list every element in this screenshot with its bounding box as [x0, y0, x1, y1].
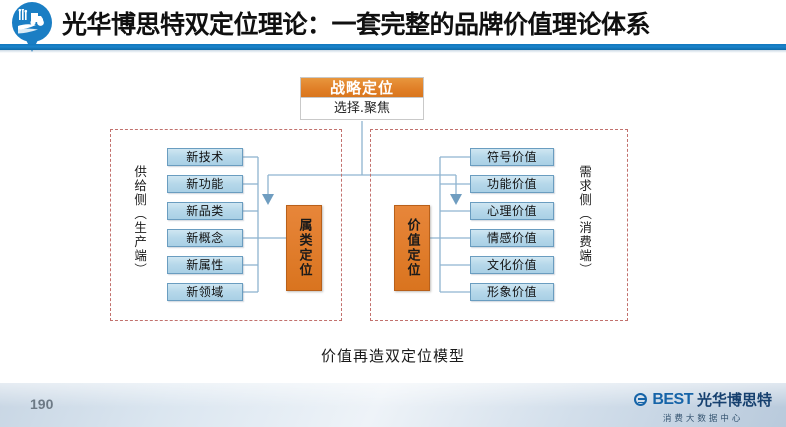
- pin-inner-farm-glyph: [17, 9, 47, 35]
- demand-item-1[interactable]: 功能价值: [470, 175, 554, 193]
- brand-subtitle-text: 消费大数据中心: [634, 412, 772, 424]
- slide-canvas: 光华博思特双定位理论：一套完整的品牌价值理论体系: [0, 0, 786, 427]
- supply-item-3[interactable]: 新概念: [167, 229, 243, 247]
- slide-footer: 190 BEST 光华博思特 消费大数据中心: [0, 383, 786, 427]
- demand-item-5[interactable]: 形象价值: [470, 283, 554, 301]
- best-emblem-icon: [634, 393, 647, 406]
- supply-item-5[interactable]: 新领域: [167, 283, 243, 301]
- brand-logo-row: BEST 光华博思特: [634, 389, 772, 410]
- supply-item-1[interactable]: 新功能: [167, 175, 243, 193]
- demand-item-0[interactable]: 符号价值: [470, 148, 554, 166]
- strategy-box: 战略定位 选择.聚焦: [300, 77, 424, 120]
- strategy-box-subtitle: 选择.聚焦: [300, 98, 424, 120]
- supply-item-4[interactable]: 新属性: [167, 256, 243, 274]
- category-positioning-label: 属类定位: [298, 218, 311, 278]
- page-title: 光华博思特双定位理论：一套完整的品牌价值理论体系: [62, 5, 650, 41]
- demand-item-2[interactable]: 心理价值: [470, 202, 554, 220]
- strategy-box-title: 战略定位: [300, 77, 424, 98]
- supply-item-0[interactable]: 新技术: [167, 148, 243, 166]
- supply-item-2[interactable]: 新品类: [167, 202, 243, 220]
- diagram-canvas: 战略定位 选择.聚焦 供给侧（生产端） 需求侧（消费端） 新技术 新功能 新品类…: [0, 53, 786, 383]
- brand-mark-text: BEST: [652, 391, 693, 409]
- demand-item-3[interactable]: 情感价值: [470, 229, 554, 247]
- value-positioning-label: 价值定位: [406, 218, 419, 278]
- demand-item-4[interactable]: 文化价值: [470, 256, 554, 274]
- brand-name-text: 光华博思特: [697, 389, 772, 410]
- diagram-caption: 价值再造双定位模型: [0, 345, 786, 366]
- slide-header: 光华博思特双定位理论：一套完整的品牌价值理论体系: [0, 0, 786, 52]
- page-number: 190: [30, 396, 53, 412]
- value-positioning-box[interactable]: 价值定位: [394, 205, 430, 291]
- category-positioning-box[interactable]: 属类定位: [286, 205, 322, 291]
- brand-logo: BEST 光华博思特 消费大数据中心: [634, 389, 772, 424]
- demand-side-label: 需求侧（消费端）: [578, 165, 591, 295]
- supply-side-label: 供给侧（生产端）: [133, 165, 146, 295]
